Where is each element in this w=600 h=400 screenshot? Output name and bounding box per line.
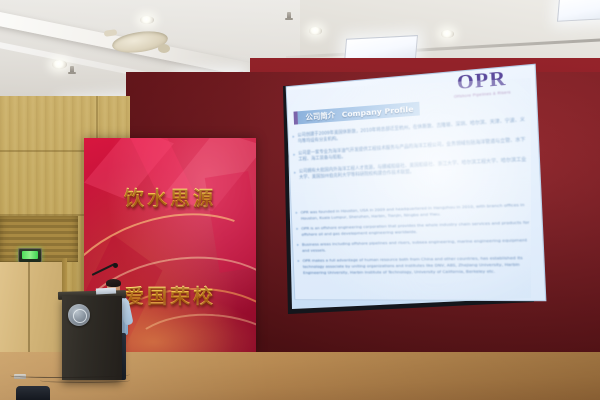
downlight-icon [52, 60, 67, 69]
microphone-head-icon [113, 263, 118, 268]
exit-sign-icon [18, 248, 42, 263]
downlight-icon [309, 27, 322, 35]
podium-papers [96, 287, 116, 294]
lecture-hall-photo: 饮水思源 爱国荣校 OPR Offshore Pipelines & Riser… [0, 0, 600, 400]
presenter-hair [106, 279, 121, 287]
downlight-icon [140, 16, 154, 24]
university-crest-icon [68, 304, 90, 326]
downlight-icon [441, 30, 454, 38]
ceiling-vent-cap [158, 44, 170, 53]
banner-slogan-line-1: 饮水思源 [84, 182, 256, 211]
sprinkler-icon [287, 12, 291, 19]
ceiling-panel-light [557, 0, 600, 22]
sprinkler-icon [70, 66, 74, 73]
floor-cable [40, 378, 130, 383]
screen-glare [276, 74, 534, 314]
front-row-chair [16, 386, 50, 400]
